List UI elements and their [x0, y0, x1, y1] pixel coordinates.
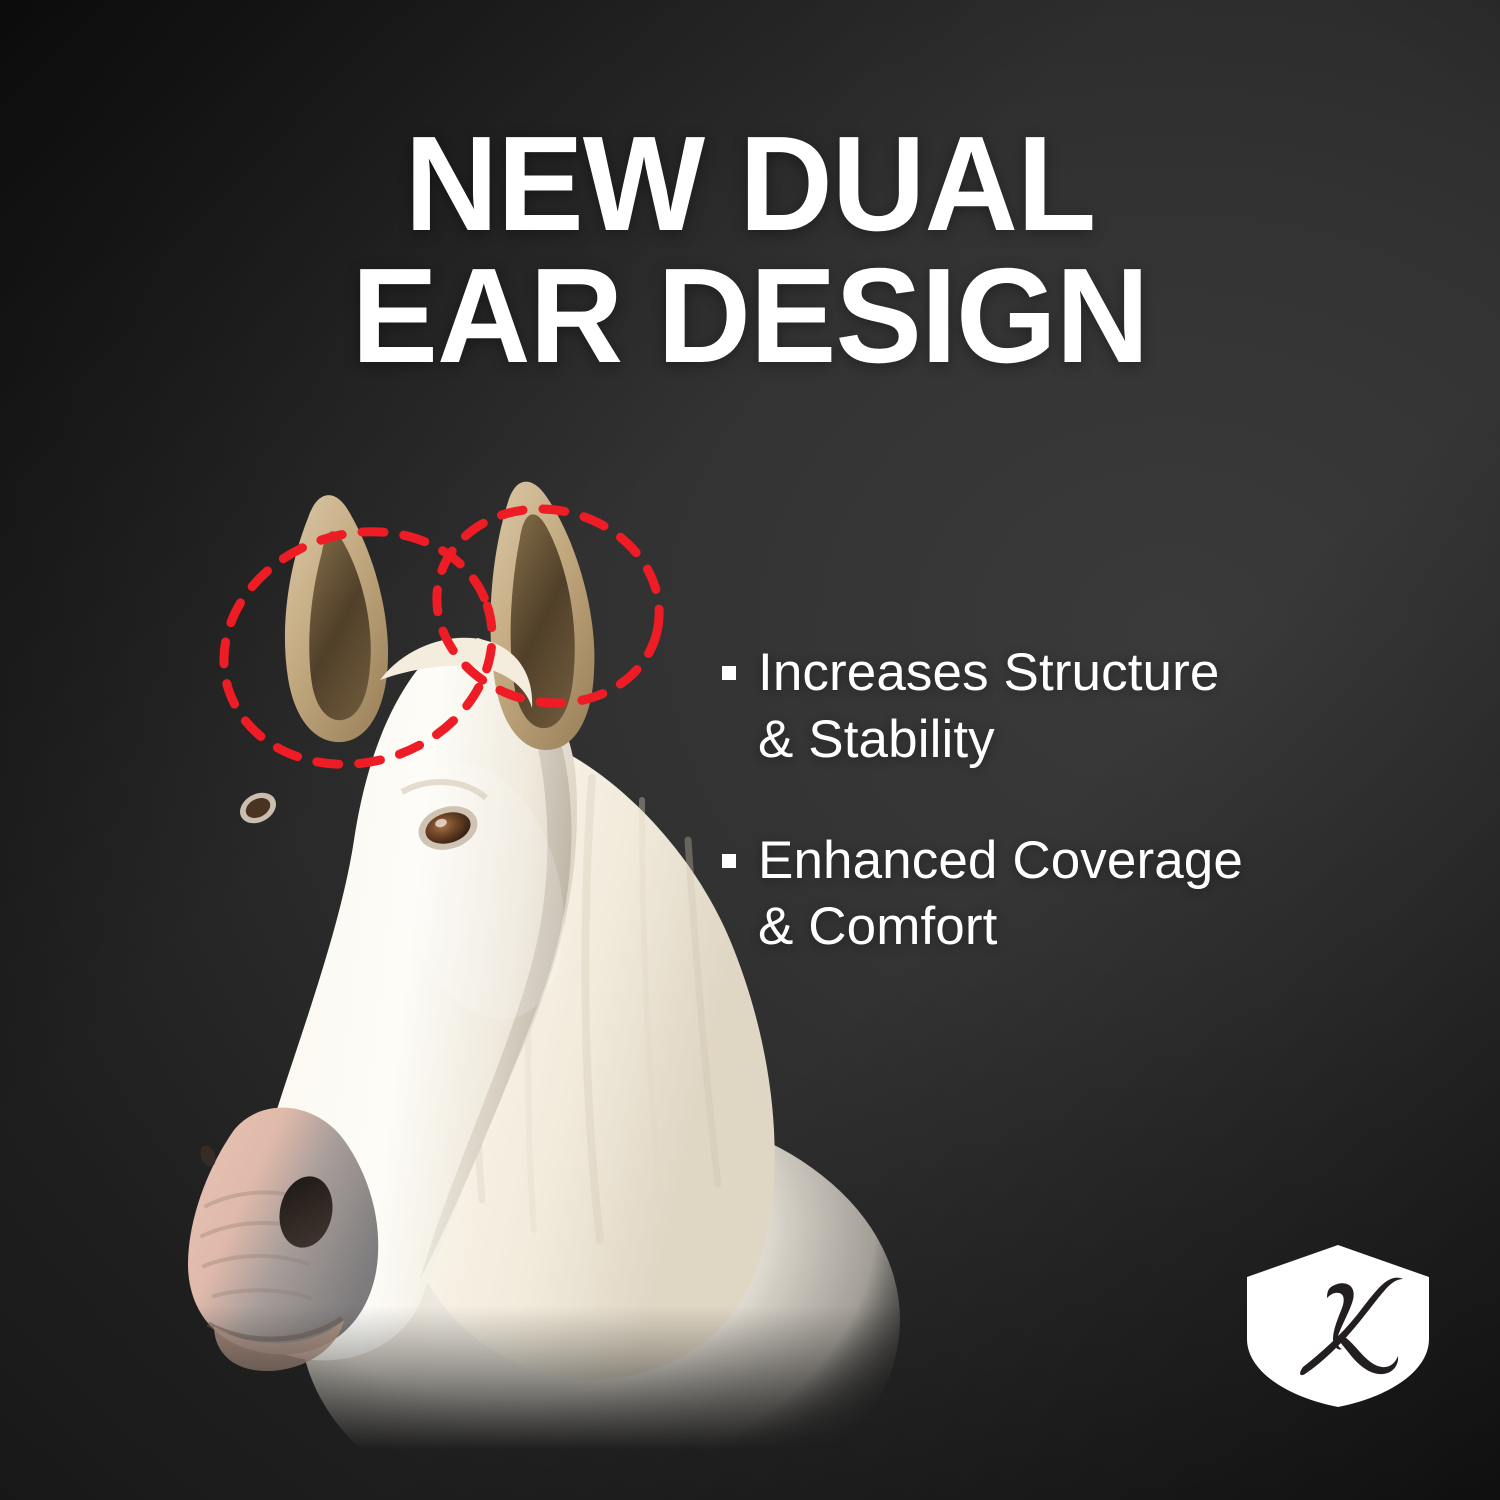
bullet-text: Enhanced Coverage & Comfort [758, 828, 1243, 962]
bullet-item: Increases Structure & Stability [722, 640, 1422, 774]
bullet-line-2: & Stability [758, 710, 995, 769]
headline: NEW DUAL EAR DESIGN [30, 118, 1470, 383]
bullet-item: Enhanced Coverage & Comfort [722, 828, 1422, 962]
bullet-text: Increases Structure & Stability [758, 640, 1219, 774]
headline-line-2: EAR DESIGN [30, 250, 1470, 382]
bullet-line-1: Enhanced Coverage [758, 831, 1243, 890]
bullet-line-1: Increases Structure [758, 643, 1219, 702]
feature-bullets: Increases Structure & Stability Enhanced… [722, 640, 1422, 1015]
bullet-square-icon [722, 666, 736, 680]
headline-line-1: NEW DUAL [30, 118, 1470, 250]
bullet-line-2: & Comfort [758, 897, 997, 956]
bullet-square-icon [722, 854, 736, 868]
horse-eye-left [235, 787, 282, 830]
brand-logo [1243, 1243, 1433, 1409]
ad-canvas: NEW DUAL EAR DESIGN [0, 0, 1500, 1500]
